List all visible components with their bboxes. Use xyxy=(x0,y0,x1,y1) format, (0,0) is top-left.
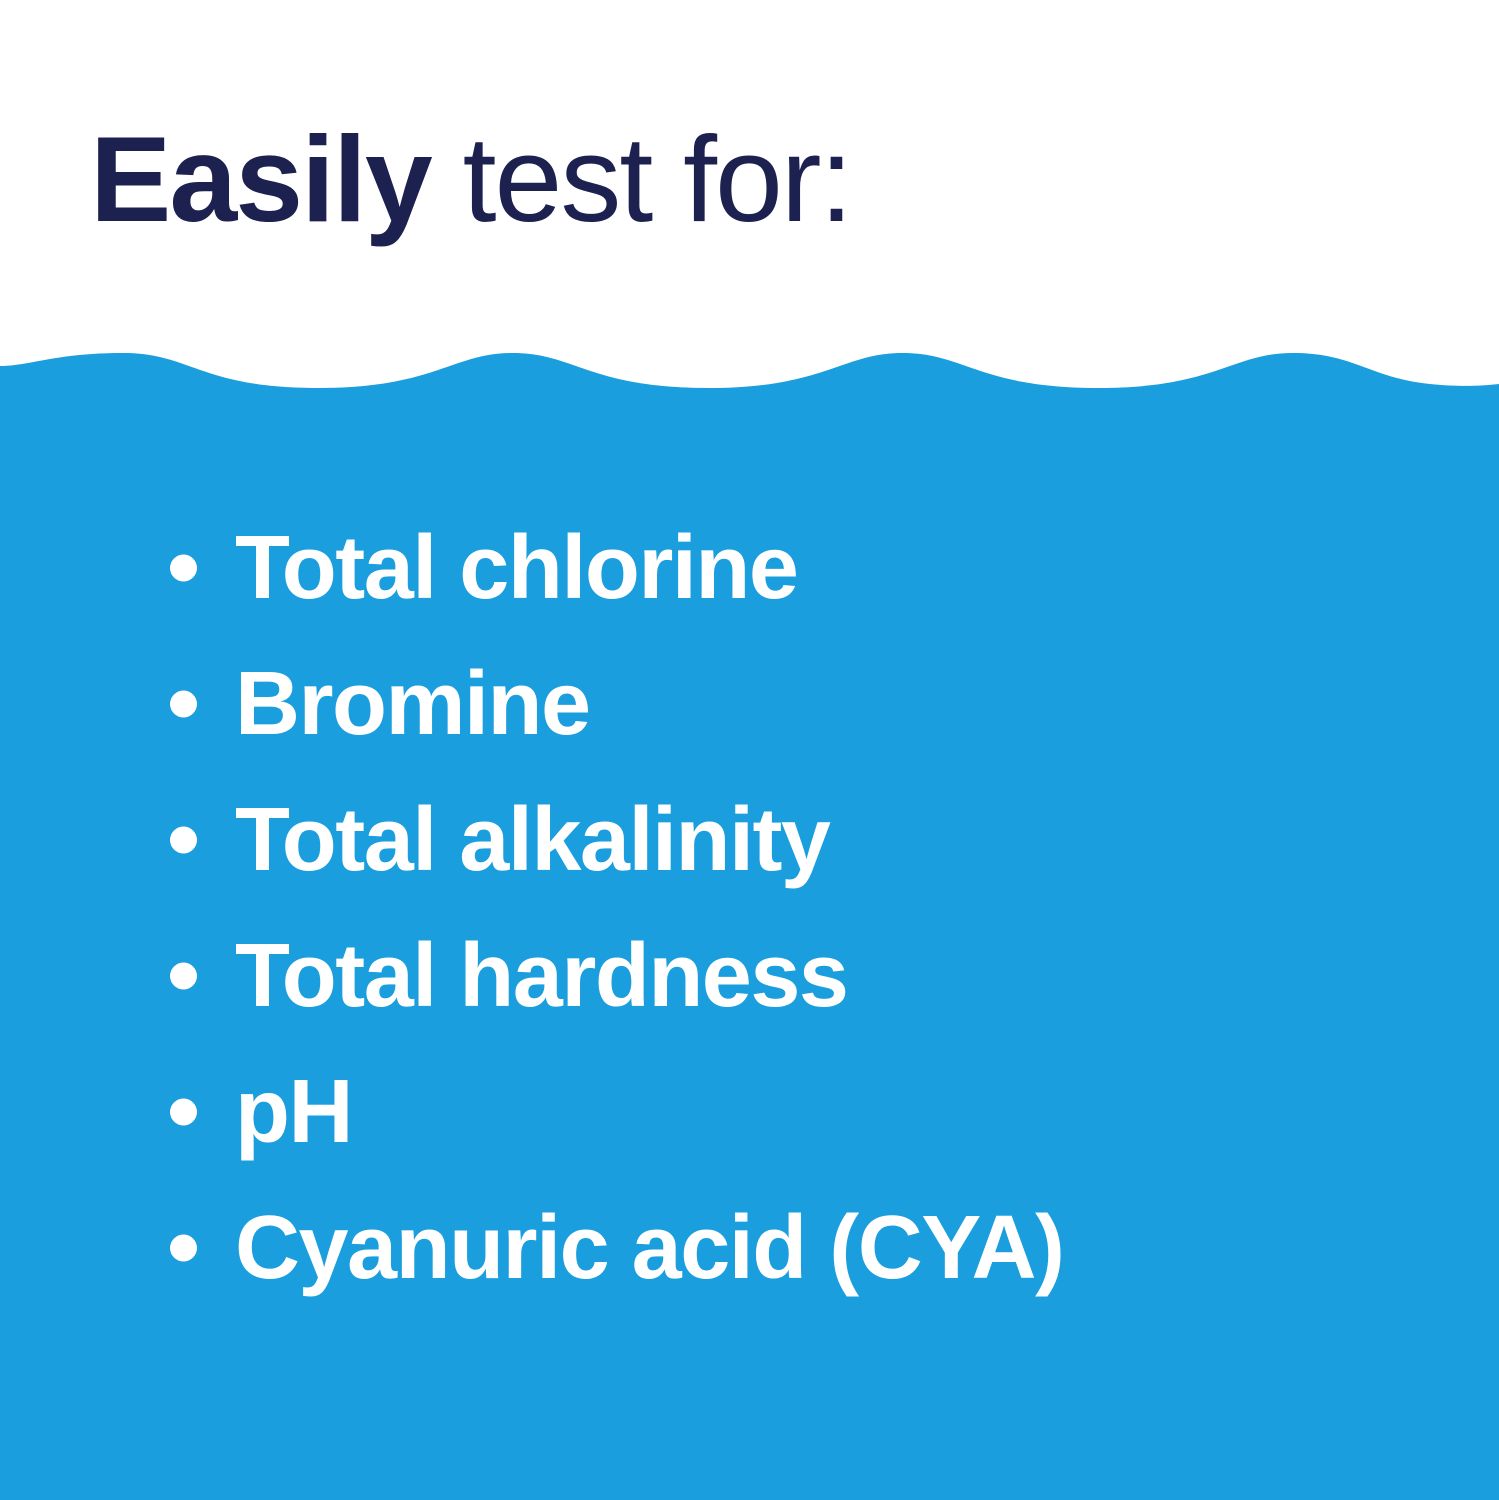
list-item: Bromine xyxy=(0,636,1499,772)
list-item-label: Cyanuric acid (CYA) xyxy=(235,1203,1063,1293)
list-item-label: Total hardness xyxy=(235,931,847,1021)
page-title: Easily test for: xyxy=(90,118,851,240)
page-title-light: test for: xyxy=(431,111,852,247)
heading-area: Easily test for: xyxy=(0,0,1499,350)
bullet-icon xyxy=(170,555,197,582)
list-item: Cyanuric acid (CYA) xyxy=(0,1180,1499,1316)
list-item-label: Total alkalinity xyxy=(235,795,830,885)
list-item: Total chlorine xyxy=(0,500,1499,636)
list-item-label: Total chlorine xyxy=(235,523,797,613)
bullet-icon xyxy=(170,1235,197,1262)
bullet-icon xyxy=(170,1099,197,1126)
list-item: pH xyxy=(0,1044,1499,1180)
list-item: Total alkalinity xyxy=(0,772,1499,908)
list-item-label: Bromine xyxy=(235,659,590,749)
bullet-icon xyxy=(170,963,197,990)
bullet-icon xyxy=(170,691,197,718)
page-title-strong: Easily xyxy=(90,111,431,247)
list-item-label: pH xyxy=(235,1067,352,1157)
test-parameter-list: Total chlorine Bromine Total alkalinity … xyxy=(0,500,1499,1316)
poster-canvas: Easily test for: Total chlorine Bromine … xyxy=(0,0,1499,1500)
list-item: Total hardness xyxy=(0,908,1499,1044)
bullet-icon xyxy=(170,827,197,854)
